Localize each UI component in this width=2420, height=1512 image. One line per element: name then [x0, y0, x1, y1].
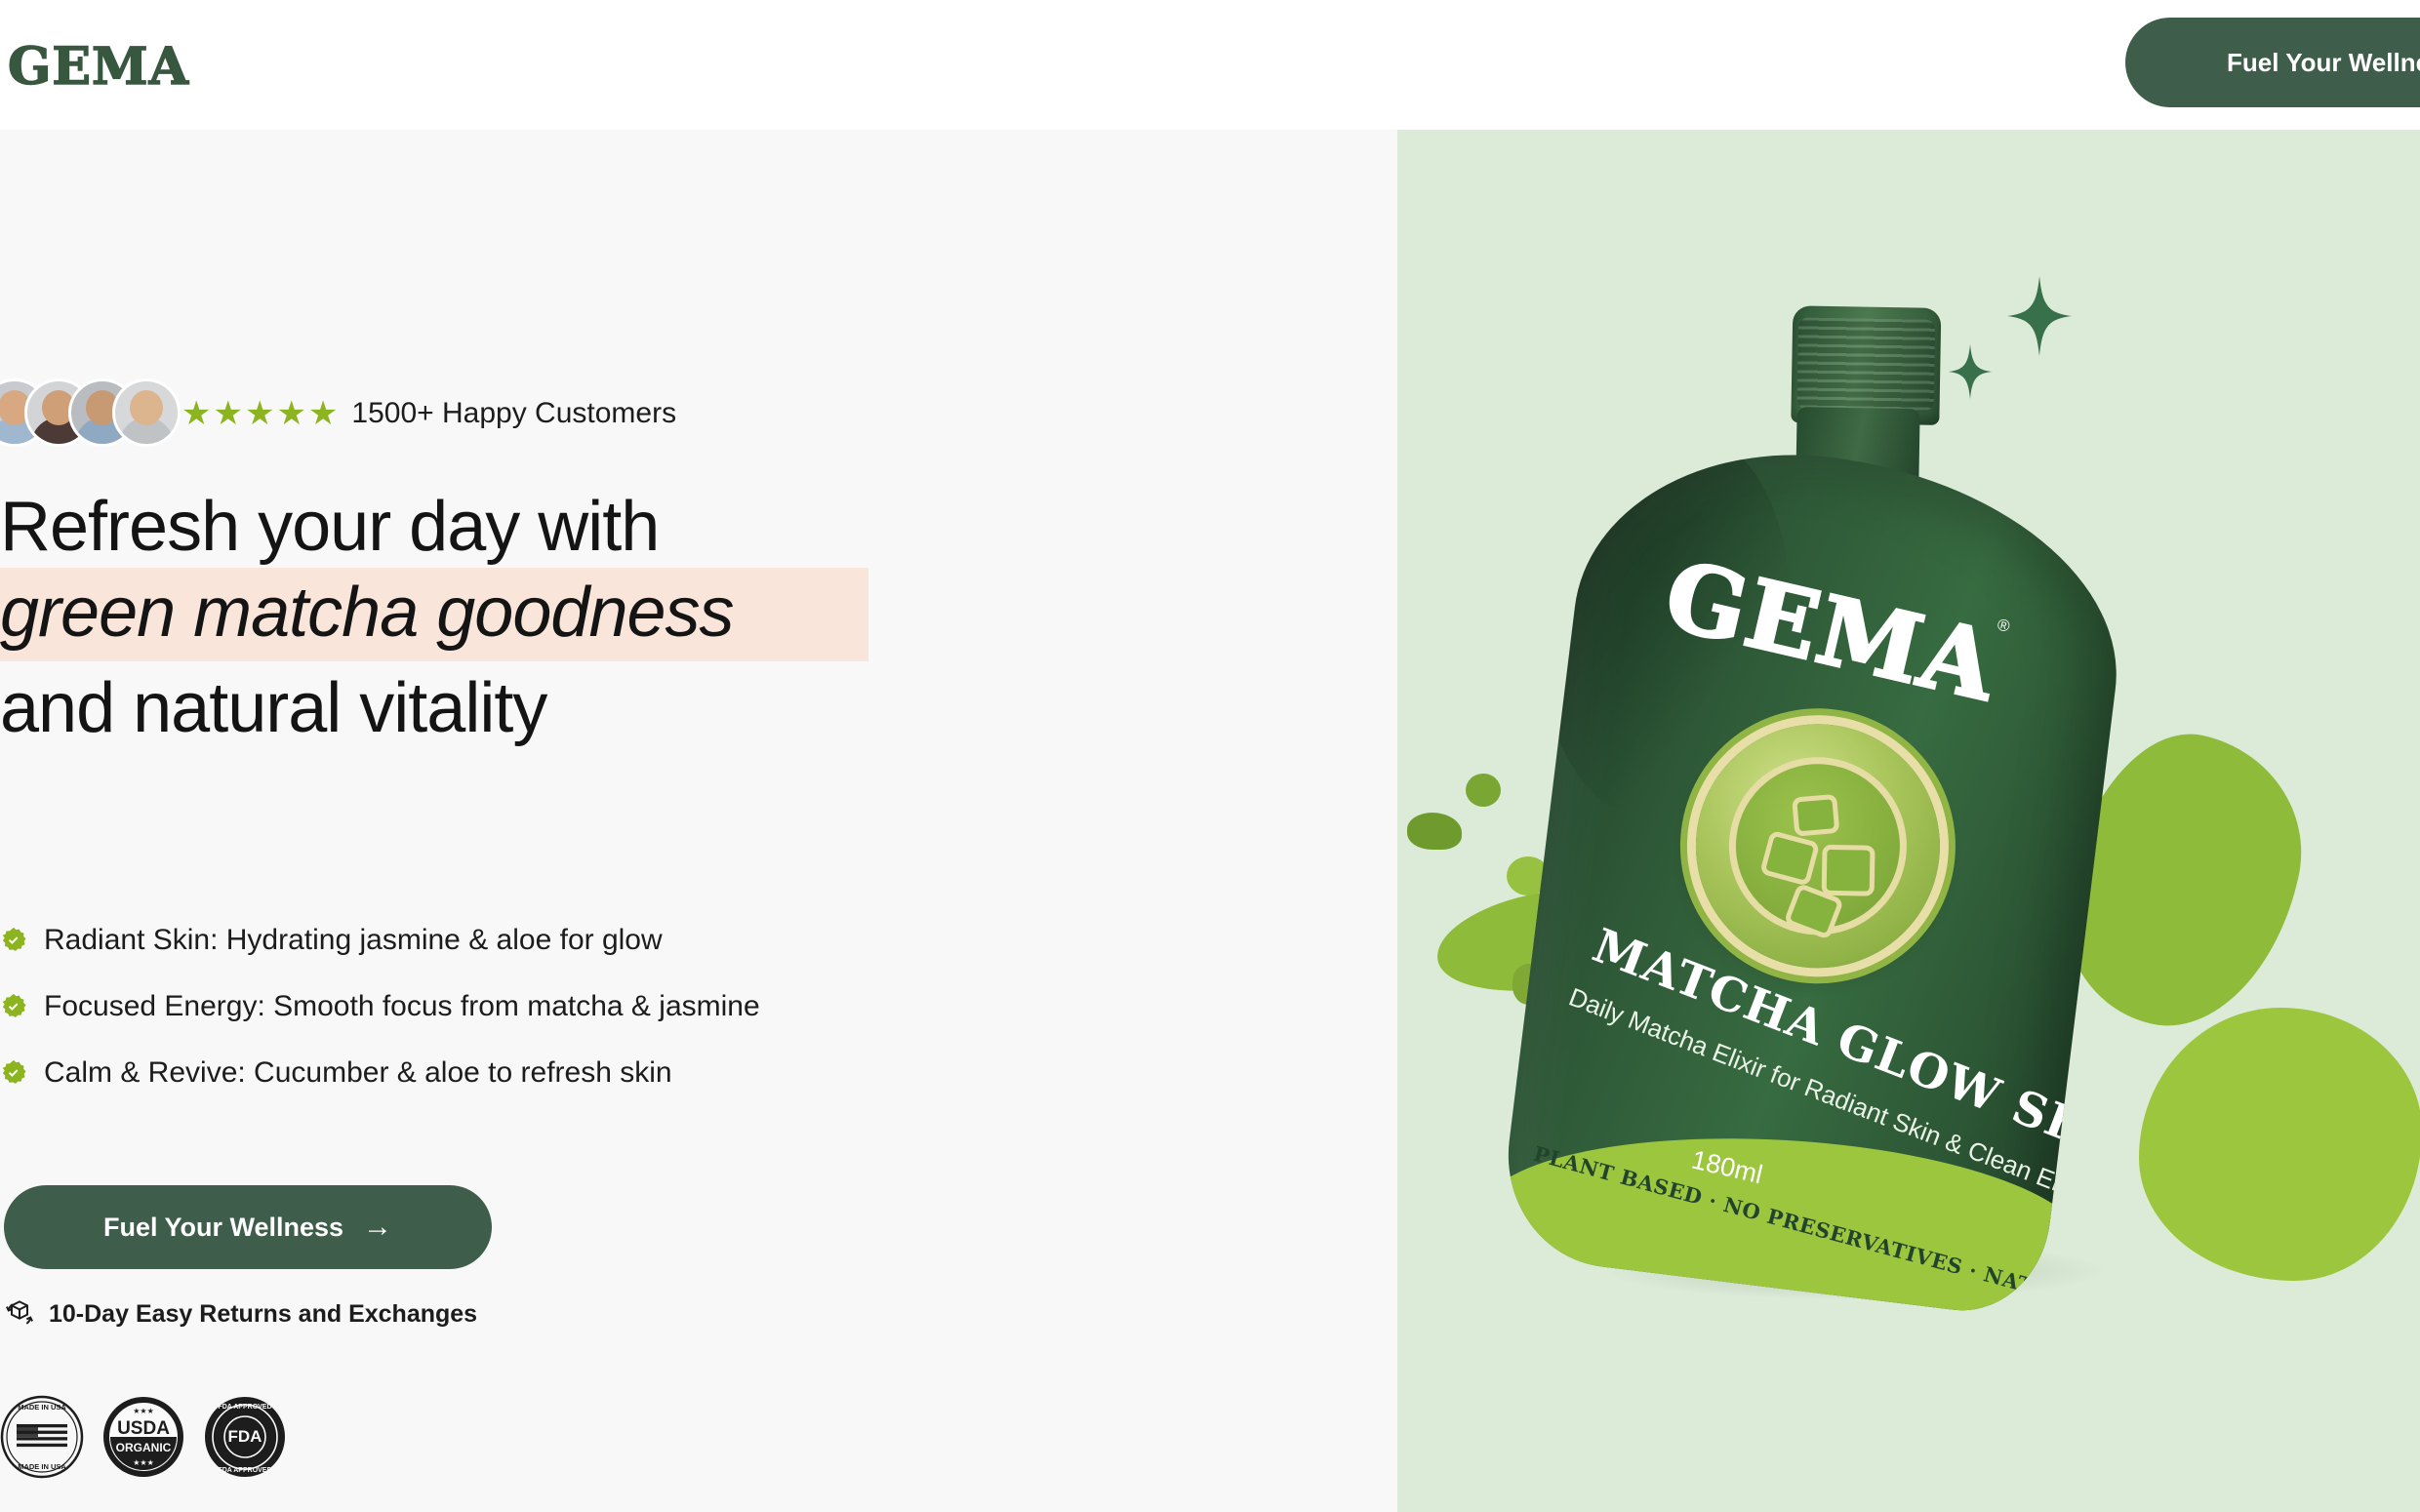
return-box-icon [4, 1298, 35, 1330]
matcha-cube [1822, 845, 1875, 896]
avatar-group [0, 378, 172, 449]
site-header: GEMA Fuel Your Wellness [0, 0, 2420, 130]
arrow-right-icon: → [363, 1213, 392, 1242]
svg-text:MADE IN USA: MADE IN USA [18, 1403, 66, 1412]
matcha-splash [1466, 774, 1501, 807]
list-item: Radiant Skin: Hydrating jasmine & aloe f… [0, 920, 1073, 961]
check-badge-icon [0, 927, 27, 954]
cta-label: Fuel Your Wellness [103, 1213, 343, 1243]
brand-logo[interactable]: GEMA [8, 37, 189, 97]
matcha-seal-illustration [1682, 710, 1955, 982]
product-pouch: GEMA ® PLANT BASED · NO PRESERVATIVES · … [1496, 276, 2158, 1321]
svg-text:FDA APPROVED: FDA APPROVED [218, 1404, 271, 1411]
made-in-usa-badge: MADE IN USA MADE IN USA [0, 1395, 84, 1479]
svg-text:FDA: FDA [228, 1427, 262, 1446]
trust-badge-group: MADE IN USA MADE IN USA ★★★ USDA ORGANIC… [0, 1395, 287, 1479]
avatar [112, 378, 181, 447]
benefits-list: Radiant Skin: Hydrating jasmine & aloe f… [0, 920, 1073, 1119]
usda-organic-badge: ★★★ USDA ORGANIC ★★★ [101, 1395, 185, 1479]
check-badge-icon [0, 1059, 27, 1087]
social-proof: ★★★★★ 1500+ Happy Customers [0, 378, 676, 449]
fuel-your-wellness-button[interactable]: Fuel Your Wellness → [4, 1185, 492, 1269]
check-badge-icon [0, 993, 27, 1020]
benefit-label: Focused Energy: Smooth focus from matcha… [44, 992, 760, 1021]
star-rating-icon: ★★★★★ [181, 397, 340, 430]
fda-approved-badge: FDA FDA APPROVED FDA APPROVED [203, 1395, 287, 1479]
hero-content-panel: ★★★★★ 1500+ Happy Customers Refresh your… [0, 130, 1397, 1512]
matcha-cube [1759, 830, 1820, 887]
pouch-brand-logo: GEMA [1656, 539, 2008, 722]
list-item: Focused Energy: Smooth focus from matcha… [0, 986, 1073, 1027]
matcha-cube [1792, 794, 1839, 837]
svg-text:FDA APPROVED: FDA APPROVED [218, 1467, 271, 1474]
returns-policy: 10-Day Easy Returns and Exchanges [4, 1298, 477, 1330]
hero-page: GEMA Fuel Your Wellness ★★★★★ 1500+ Happ… [0, 0, 2420, 1512]
matcha-splash [1407, 813, 1462, 850]
benefit-label: Calm & Revive: Cucumber & aloe to refres… [44, 1058, 672, 1088]
svg-text:★★★: ★★★ [133, 1458, 154, 1467]
headline-line-3: and natural vitality [0, 665, 976, 743]
svg-text:★★★: ★★★ [133, 1407, 154, 1415]
header-cta-button[interactable]: Fuel Your Wellness [2125, 18, 2420, 107]
headline-line-1: Refresh your day with [0, 486, 976, 562]
list-item: Calm & Revive: Cucumber & aloe to refres… [0, 1053, 1073, 1094]
svg-text:ORGANIC: ORGANIC [116, 1441, 172, 1454]
matcha-splash [2139, 1008, 2420, 1281]
product-hero-image: GEMA ® PLANT BASED · NO PRESERVATIVES · … [1397, 130, 2420, 1512]
svg-text:MADE IN USA: MADE IN USA [18, 1462, 66, 1471]
pouch-body: GEMA ® PLANT BASED · NO PRESERVATIVES · … [1496, 428, 2140, 1320]
benefit-label: Radiant Skin: Hydrating jasmine & aloe f… [44, 926, 663, 955]
headline-line-2-highlighted: green matcha goodness [0, 568, 868, 661]
returns-label: 10-Day Easy Returns and Exchanges [49, 1300, 477, 1329]
page-title: Refresh your day with green matcha goodn… [0, 486, 976, 743]
happy-customers-label: 1500+ Happy Customers [351, 397, 676, 430]
svg-text:USDA: USDA [117, 1418, 170, 1439]
